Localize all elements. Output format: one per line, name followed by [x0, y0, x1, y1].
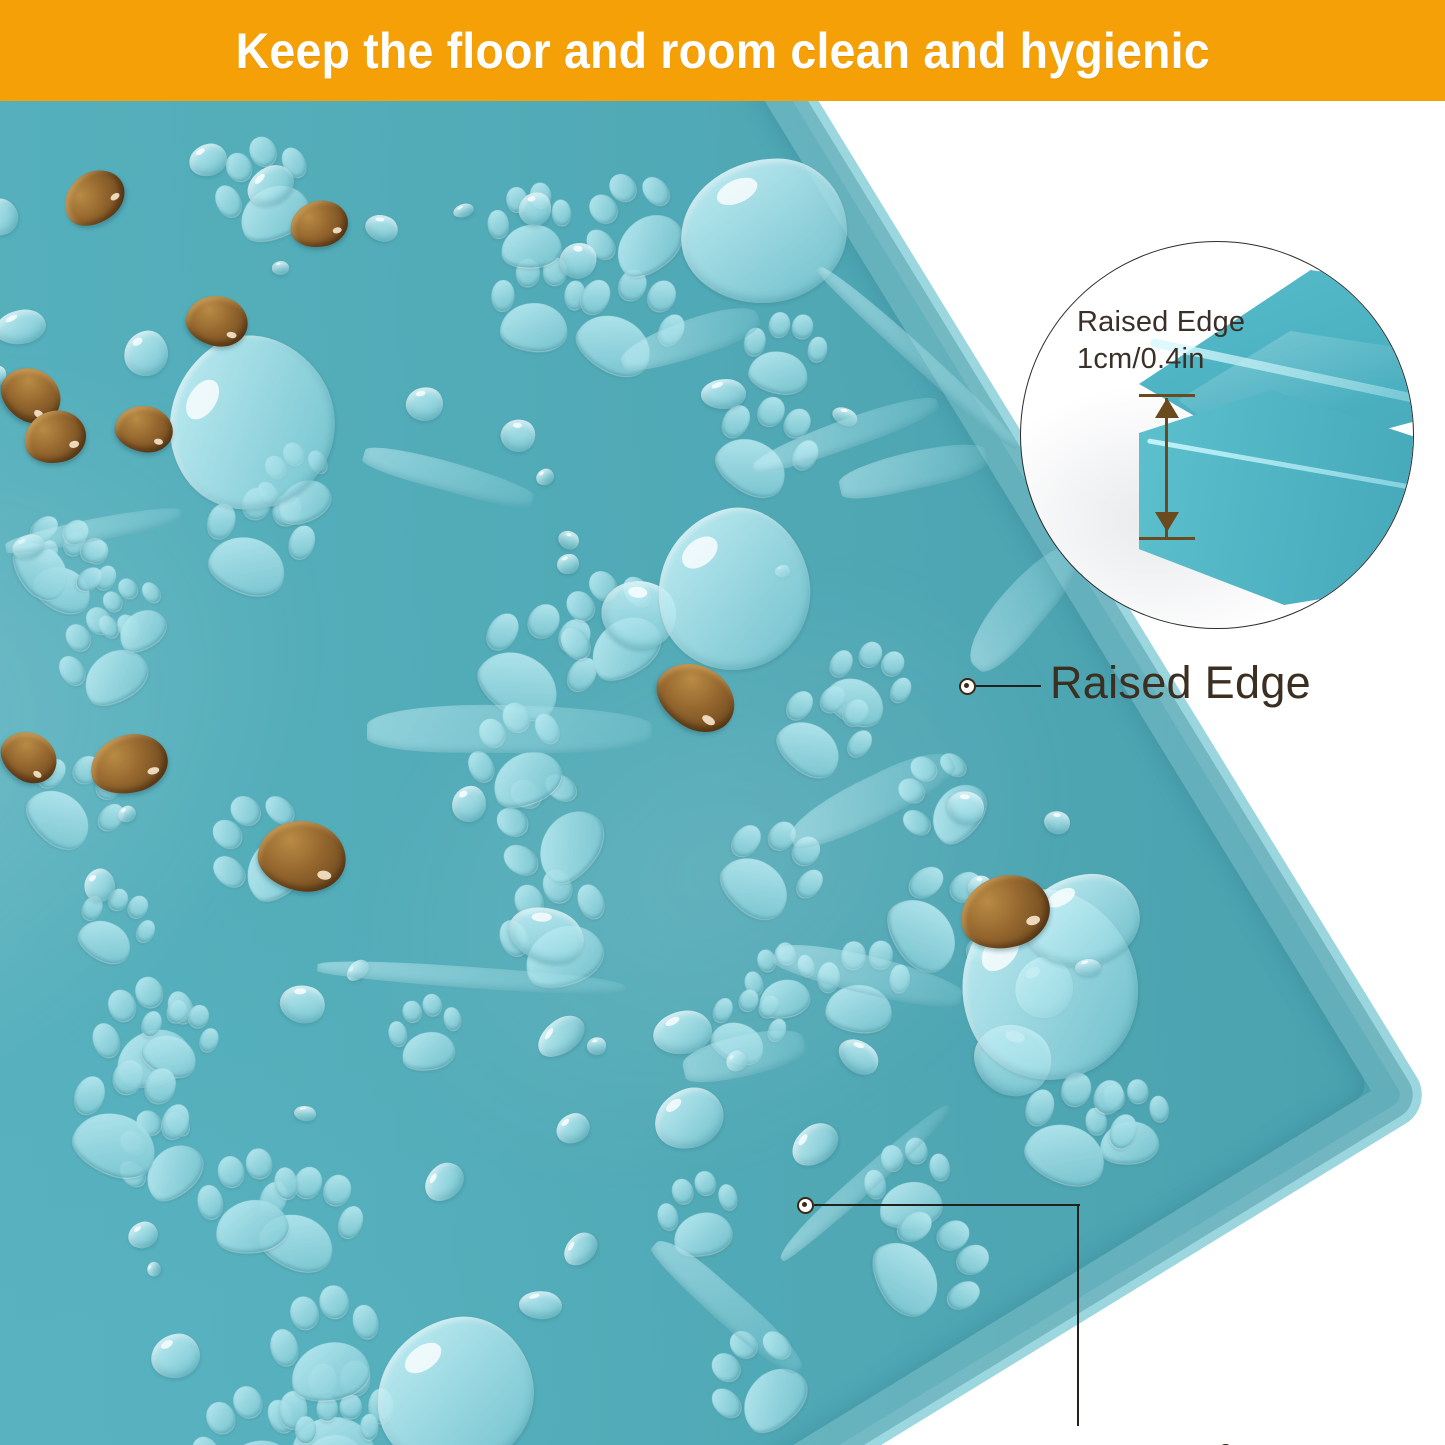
callout-dot-raised-edge — [959, 678, 976, 695]
water-droplet — [701, 378, 746, 409]
arrow-down-icon — [1155, 512, 1179, 532]
water-droplet — [557, 554, 579, 575]
paw-print-icon — [186, 1137, 307, 1265]
raised-edge-detail-inset: Raised Edge 1cm/0.4in — [1020, 241, 1414, 629]
callout-leader-waterproof-horizontal — [814, 1204, 1080, 1206]
product-infographic: Keep the floor and room clean and hygien… — [0, 0, 1445, 1445]
callout-dot-waterproof — [797, 1197, 814, 1214]
headline-text: Keep the floor and room clean and hygien… — [235, 22, 1209, 80]
product-photo: Raised Edge 1cm/0.4in Raised Edge 100% w… — [0, 101, 1445, 1445]
water-smear — [367, 704, 652, 754]
inset-label-line2: 1cm/0.4in — [1077, 341, 1277, 378]
arrow-up-icon — [1155, 398, 1179, 418]
callout-leader-waterproof-vertical — [1077, 1204, 1079, 1426]
dimension-tick-top — [1139, 394, 1195, 397]
inset-label: Raised Edge 1cm/0.4in — [1077, 304, 1277, 378]
inset-label-line1: Raised Edge — [1077, 304, 1277, 341]
water-droplet — [1074, 958, 1101, 976]
headline-banner: Keep the floor and room clean and hygien… — [0, 0, 1445, 101]
callout-label-waterproof: 100% waterproof — [884, 1436, 1229, 1445]
callout-label-raised-edge: Raised Edge — [1050, 657, 1311, 709]
dimension-arrow — [1139, 392, 1195, 544]
paw-print-icon — [378, 985, 468, 1080]
callout-leader-raised-edge — [976, 685, 1041, 687]
